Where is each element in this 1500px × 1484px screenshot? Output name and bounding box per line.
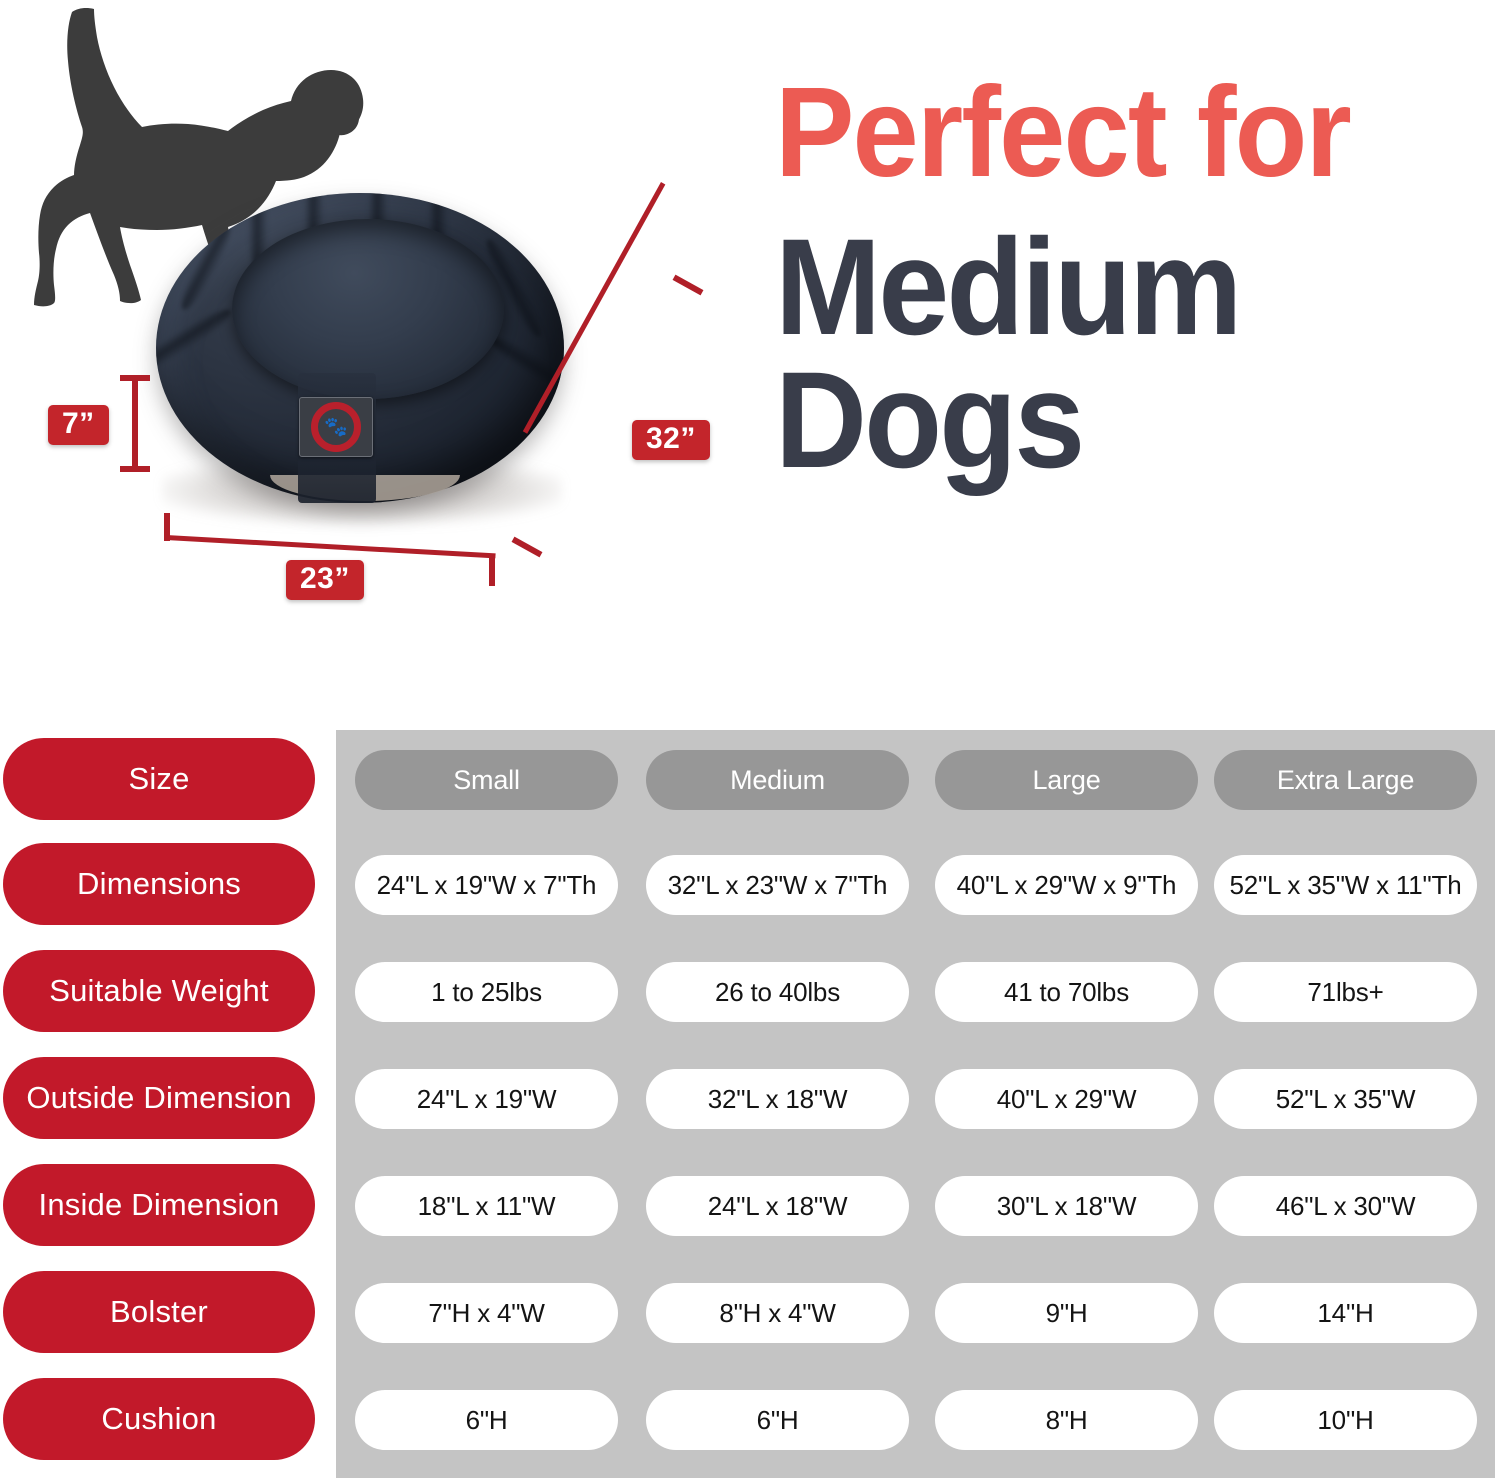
table-row-label-column: Size Dimensions Suitable Weight Outside …: [3, 700, 321, 1484]
table-cell: 52"L x 35"W: [1214, 1069, 1477, 1129]
callout-width: 23”: [286, 560, 364, 600]
infographic-page: 🐾 7” 23” 32” Perfect for Medium Dogs Siz…: [0, 0, 1500, 1484]
row-label-dimensions: Dimensions: [3, 843, 315, 925]
table-cell: 26 to 40lbs: [646, 962, 909, 1022]
width-dim-cap-left: [164, 513, 170, 541]
paw-print-icon: 🐾: [324, 418, 348, 437]
table-cell: 6"H: [646, 1390, 909, 1450]
table-cell: 6"H: [355, 1390, 618, 1450]
table-cell: 8"H x 4"W: [646, 1283, 909, 1343]
table-cell: 9"H: [935, 1283, 1198, 1343]
table-cell: 30"L x 18"W: [935, 1176, 1198, 1236]
bed-cushion: [232, 219, 504, 399]
table-cell: 1 to 25lbs: [355, 962, 618, 1022]
table-cell: 24"L x 18"W: [646, 1176, 909, 1236]
column-header-extra-large: Extra Large: [1214, 750, 1477, 810]
callout-height: 7”: [48, 405, 109, 445]
hero-section: 🐾 7” 23” 32” Perfect for Medium Dogs: [0, 0, 1500, 700]
column-header-medium: Medium: [646, 750, 909, 810]
brand-tag: 🐾: [299, 397, 373, 457]
row-label-cushion: Cushion: [3, 1378, 315, 1460]
table-cell: 32"L x 18"W: [646, 1069, 909, 1129]
table-cell: 7"H x 4"W: [355, 1283, 618, 1343]
row-label-inside-dimension: Inside Dimension: [3, 1164, 315, 1246]
row-label-size: Size: [3, 738, 315, 820]
row-label-outside-dimension: Outside Dimension: [3, 1057, 315, 1139]
height-dim-cap-bottom: [120, 466, 150, 472]
headline-line-2: Medium: [775, 218, 1435, 358]
table-cell: 52"L x 35"W x 11"Th: [1214, 855, 1477, 915]
table-cell: 46"L x 30"W: [1214, 1176, 1477, 1236]
table-cell: 32"L x 23"W x 7"Th: [646, 855, 909, 915]
column-header-large: Large: [935, 750, 1198, 810]
height-dim-cap-top: [120, 375, 150, 381]
table-cell: 18"L x 11"W: [355, 1176, 618, 1236]
column-header-small: Small: [355, 750, 618, 810]
height-dim-line: [132, 378, 138, 470]
table-cell: 71lbs+: [1214, 962, 1477, 1022]
row-label-bolster: Bolster: [3, 1271, 315, 1353]
headline-line-3: Dogs: [775, 351, 1435, 491]
width-dim-cap-right: [489, 558, 495, 586]
table-cell: 8"H: [935, 1390, 1198, 1450]
table-cell: 24"L x 19"W x 7"Th: [355, 855, 618, 915]
table-cell: 41 to 70lbs: [935, 962, 1198, 1022]
table-cell: 10"H: [1214, 1390, 1477, 1450]
table-cell: 40"L x 29"W x 9"Th: [935, 855, 1198, 915]
callout-length: 32”: [632, 420, 710, 460]
row-label-suitable-weight: Suitable Weight: [3, 950, 315, 1032]
brand-ring: 🐾: [311, 402, 361, 452]
length-dim-cap-top: [673, 275, 704, 296]
table-cell: 14"H: [1214, 1283, 1477, 1343]
specification-table: Size Dimensions Suitable Weight Outside …: [0, 700, 1500, 1484]
table-cell: 40"L x 29"W: [935, 1069, 1198, 1129]
table-cell: 24"L x 19"W: [355, 1069, 618, 1129]
product-image-dog-bed: 🐾: [150, 185, 570, 540]
headline: Perfect for Medium Dogs: [775, 72, 1485, 491]
headline-line-1: Perfect for: [775, 72, 1435, 194]
